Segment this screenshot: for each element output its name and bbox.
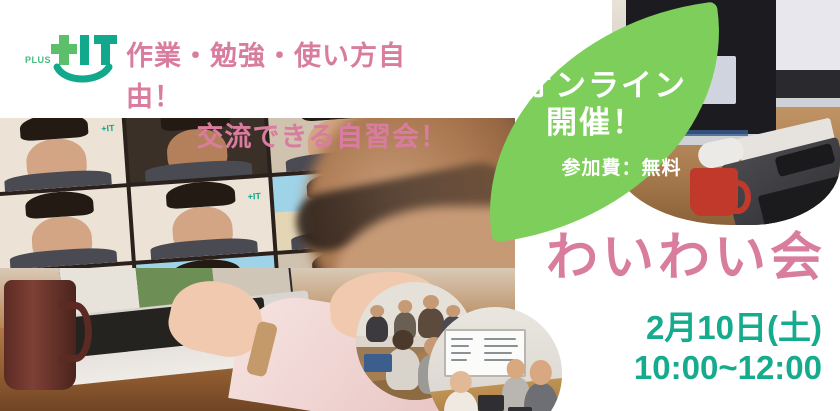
logo-plus-word: PLUS	[25, 55, 51, 65]
event-banner: +IT +IT	[0, 0, 840, 411]
event-time: 10:00~12:00	[634, 348, 822, 388]
meetup-circle-photo	[428, 307, 562, 411]
plus-it-logo-mark	[51, 33, 117, 85]
video-tile	[0, 187, 132, 270]
online-badge-line1: オンライン	[522, 68, 687, 105]
online-badge: オンライン 開催！ 参加費：無料	[477, 18, 732, 226]
event-title: わいわい会	[546, 232, 826, 284]
coffee-mug	[4, 280, 76, 390]
video-tile: +IT	[0, 118, 127, 193]
plus-it-logo: PLUS	[25, 33, 117, 85]
video-tile: +IT	[131, 177, 273, 260]
participation-fee-label: 参加費：無料	[561, 153, 681, 180]
headline-line2: 交流できる自習会！	[126, 117, 456, 158]
event-date: 2月10日(土)	[646, 309, 822, 346]
headline-line1: 作業・勉強・使い方自由！	[126, 36, 456, 117]
online-badge-line2: 開催！	[546, 105, 645, 142]
event-datetime: 2月10日(土) 10:00~12:00	[634, 308, 822, 389]
headline: 作業・勉強・使い方自由！ 交流できる自習会！	[126, 36, 456, 158]
